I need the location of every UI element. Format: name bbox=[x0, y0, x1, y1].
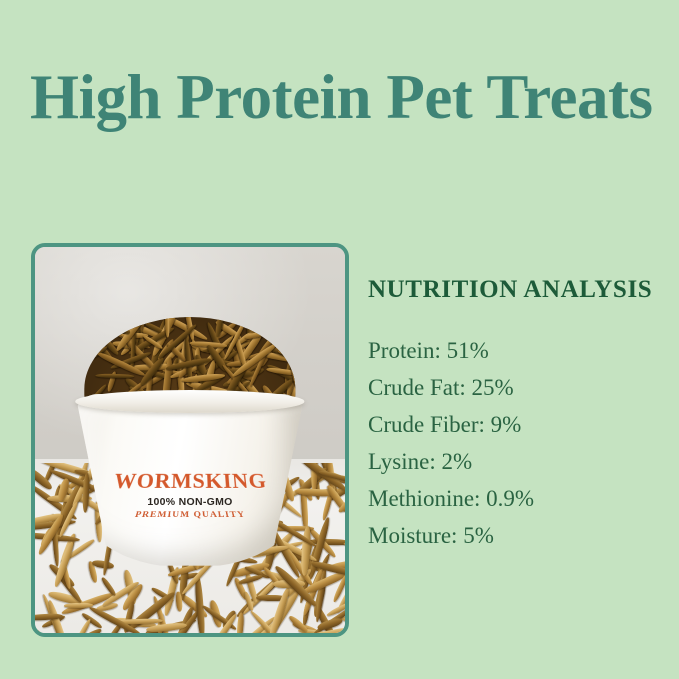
page-title: High Protein Pet Treats bbox=[30, 62, 660, 132]
product-photo: WORMSKING 100% NON-GMO PREMIUM QUALITY bbox=[35, 247, 345, 633]
nutrition-row: Moisture: 5% bbox=[368, 517, 668, 554]
mealworm-bowl: WORMSKING 100% NON-GMO PREMIUM QUALITY bbox=[75, 394, 304, 568]
nutrition-row: Lysine: 2% bbox=[368, 443, 668, 480]
bowl-tagline-text: 100% NON-GMO bbox=[101, 497, 280, 508]
nutrition-row: Crude Fat: 25% bbox=[368, 369, 668, 406]
bowl-subtagline-text: PREMIUM QUALITY bbox=[98, 511, 281, 520]
nutrition-panel: NUTRITION ANALYSIS Protein: 51%Crude Fat… bbox=[368, 276, 668, 554]
mealworm bbox=[69, 618, 92, 633]
bowl-logo: WORMSKING 100% NON-GMO PREMIUM QUALITY bbox=[101, 470, 280, 520]
bowl-brand-text: WORMSKING bbox=[99, 471, 282, 492]
nutrition-heading: NUTRITION ANALYSIS bbox=[368, 276, 668, 304]
nutrition-row: Crude Fiber: 9% bbox=[368, 406, 668, 443]
mealworm bbox=[35, 627, 56, 633]
mealworm bbox=[343, 541, 345, 558]
bowl-rim bbox=[75, 390, 304, 413]
product-photo-frame: WORMSKING 100% NON-GMO PREMIUM QUALITY bbox=[31, 243, 349, 637]
product-poster: High Protein Pet Treats WORMSKING 100% N… bbox=[0, 0, 679, 679]
nutrition-row: Protein: 51% bbox=[368, 332, 668, 369]
nutrition-row: Methionine: 0.9% bbox=[368, 480, 668, 517]
nutrition-list: Protein: 51%Crude Fat: 25%Crude Fiber: 9… bbox=[368, 332, 668, 554]
